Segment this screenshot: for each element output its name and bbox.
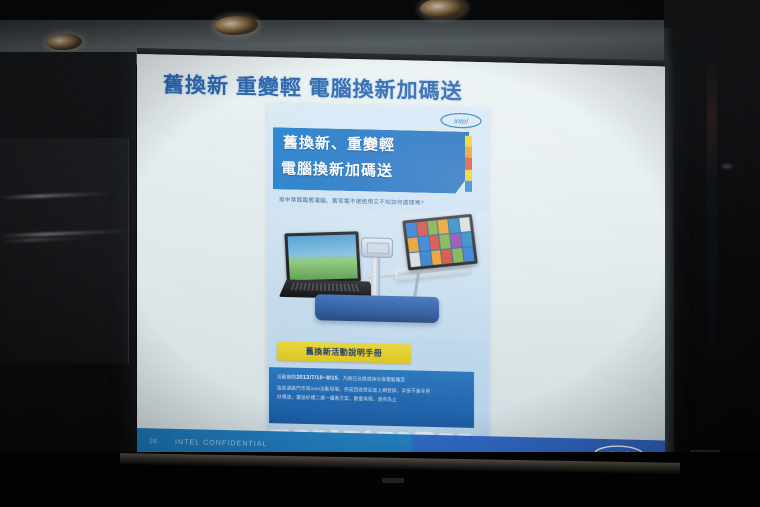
poster-artwork xyxy=(267,207,489,340)
intel-logo-icon: intel xyxy=(440,112,482,129)
poster-headline-line2: 電腦換新加碼送 xyxy=(281,157,393,181)
wall-right-edge xyxy=(664,28,674,507)
poster-subtitle: 家中常面臨舊電腦、舊家電不堪使用又不知如何處理嗎? xyxy=(279,195,475,208)
promo-poster: intel 舊換新、重變輕 電腦換新加碼送 家中常面臨舊電腦、舊家電不堪使用又不… xyxy=(267,103,489,456)
confidential-label: INTEL CONFIDENTIAL xyxy=(175,439,268,448)
old-laptop-screen xyxy=(284,231,361,283)
presentation-slide: 舊換新 重變輕 電腦換新加碼送 intel 舊換新、重變輕 電腦換新加碼送 xyxy=(137,54,665,470)
conference-room-photo: 舊換新 重變輕 電腦換新加碼送 intel 舊換新、重變輕 電腦換新加碼送 xyxy=(0,0,760,507)
handbook-banner: 舊換新活動說明手冊 xyxy=(277,341,411,363)
page-title: 舊換新 重變輕 電腦換新加碼送 xyxy=(163,69,583,109)
wall-right-light-dot xyxy=(722,164,732,169)
accent-stripe xyxy=(465,136,472,192)
new-windows8-device-image xyxy=(402,214,478,271)
wall-left-panel xyxy=(0,138,129,363)
scale-base xyxy=(315,294,439,323)
poster-terms-block: 活動期間2013/7/10~8/15，凡將已汰換或待汰換電腦攜至 指定通路門市或… xyxy=(269,367,474,428)
wall-right-strip xyxy=(707,62,717,362)
ceiling-shadow xyxy=(0,0,760,20)
windows8-start-screen xyxy=(406,217,475,267)
scale-dial xyxy=(361,237,393,258)
screen-rail-tab xyxy=(382,478,404,483)
wall-left xyxy=(0,52,136,507)
projection-screen: 舊換新 重變輕 電腦換新加碼送 intel 舊換新、重變輕 電腦換新加碼送 xyxy=(137,54,665,470)
slide-number: 24 xyxy=(149,438,157,445)
poster-headline-line1: 舊換新、重變輕 xyxy=(283,131,395,155)
svg-text:intel: intel xyxy=(454,116,468,125)
